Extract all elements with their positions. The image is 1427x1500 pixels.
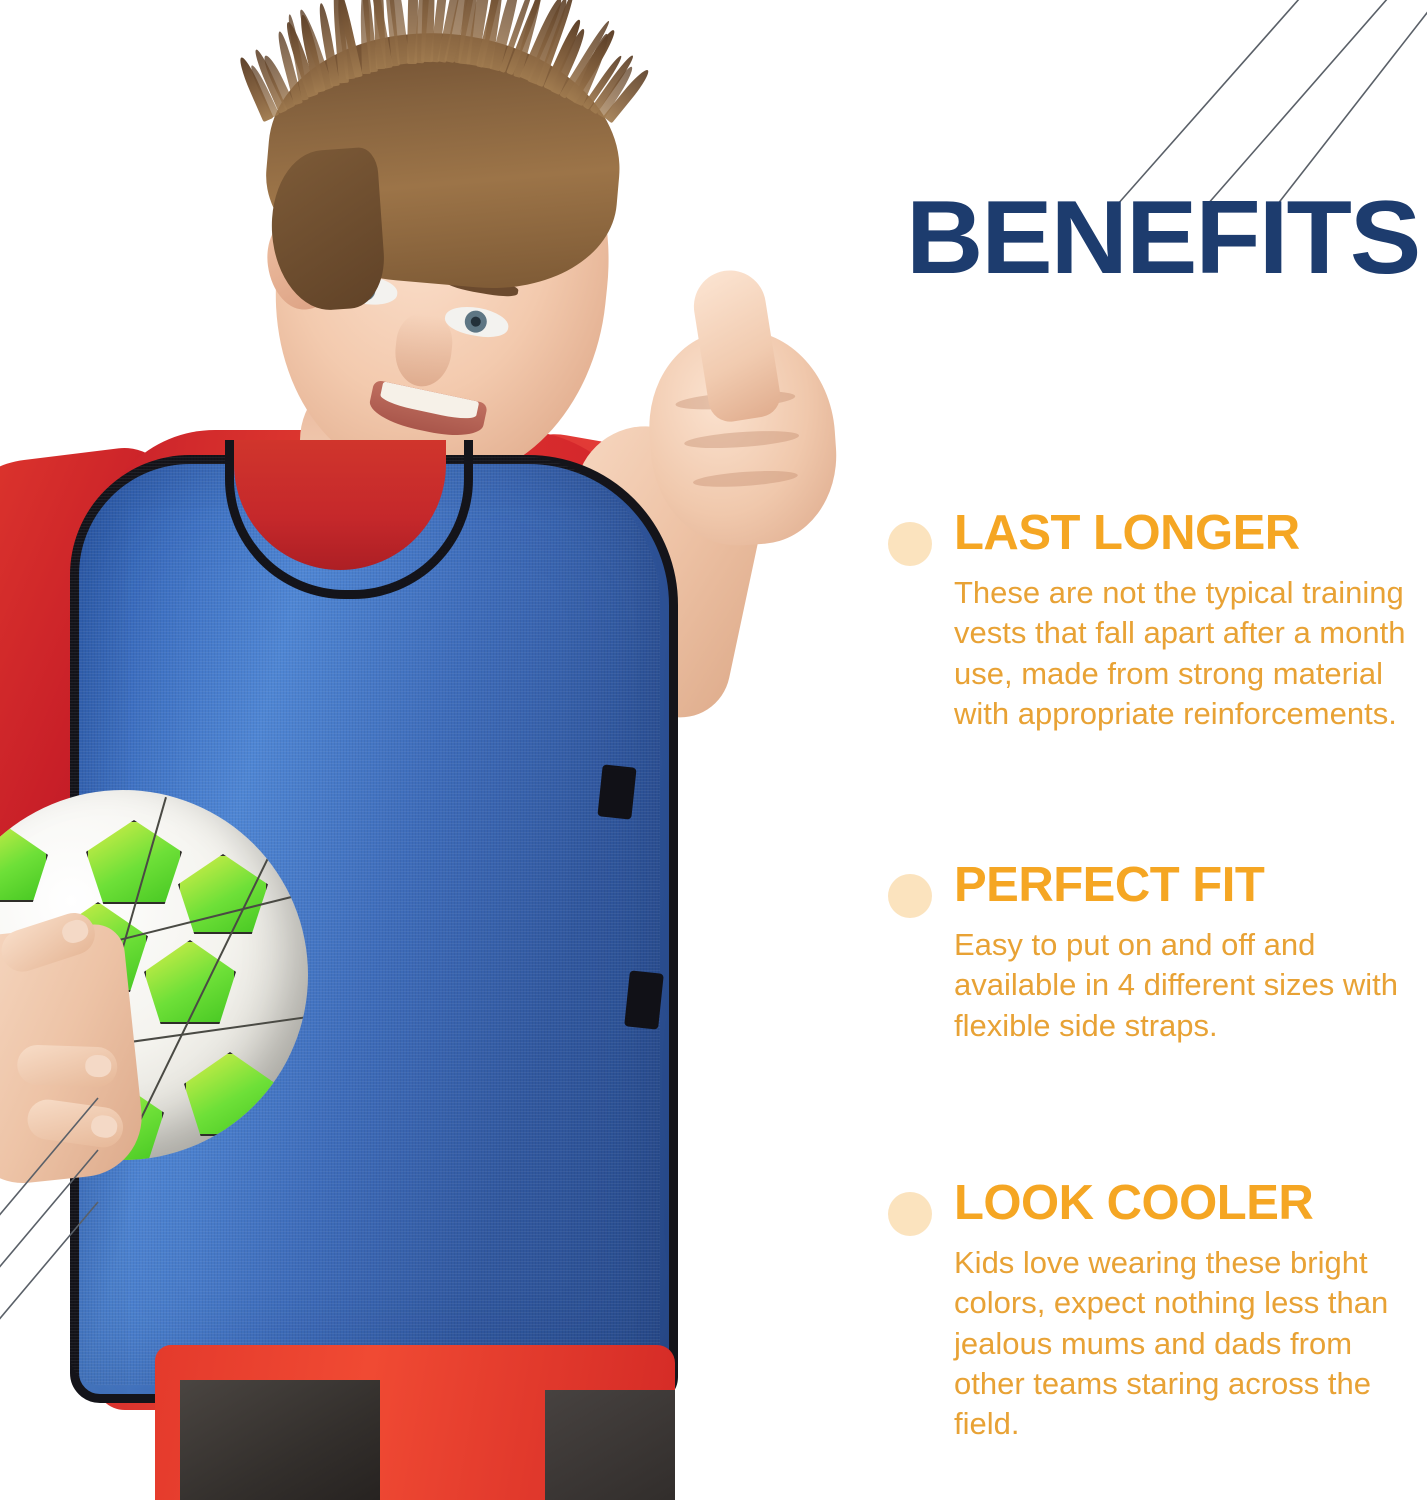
fingernail [90, 1114, 119, 1139]
nose [392, 312, 455, 389]
mouth [366, 379, 488, 442]
page-title: BENEFITS [906, 186, 1427, 290]
benefit-body: These are not the typical training vests… [954, 573, 1424, 734]
knuckle-line-2 [684, 428, 800, 451]
fingernail [85, 1055, 112, 1078]
benefit-item: LAST LONGER These are not the typical tr… [880, 508, 1427, 734]
finger [17, 1044, 118, 1087]
bullet-dot-icon [888, 522, 932, 566]
benefits-panel: BENEFITS LAST LONGER These are not the t… [880, 0, 1427, 1500]
ball-panel [86, 820, 182, 904]
benefit-body: Kids love wearing these bright colors, e… [954, 1243, 1424, 1444]
finger [25, 1097, 126, 1150]
knuckle-line-3 [693, 468, 799, 489]
benefit-heading: LAST LONGER [954, 508, 1427, 559]
hair-spikes [268, 10, 620, 150]
shorts-dark-panel-left [180, 1380, 380, 1500]
right-iris [463, 309, 488, 334]
shorts-dark-panel-right [545, 1390, 675, 1500]
ball-panel [184, 1052, 276, 1136]
product-benefits-infographic: BENEFITS LAST LONGER These are not the t… [0, 0, 1427, 1500]
hand-holding-ball [0, 922, 148, 1189]
benefit-heading: PERFECT FIT [954, 860, 1427, 911]
ball-panel [0, 826, 48, 902]
right-pupil [470, 316, 482, 328]
benefit-item: PERFECT FIT Easy to put on and off and a… [880, 860, 1427, 1046]
benefit-item: LOOK COOLER Kids love wearing these brig… [880, 1178, 1427, 1444]
right-eye [443, 302, 511, 341]
vest-side-strap-lower [624, 970, 664, 1029]
benefit-body: Easy to put on and off and available in … [954, 925, 1424, 1046]
bullet-dot-icon [888, 874, 932, 918]
vest-side-strap-upper [597, 764, 636, 819]
teeth [379, 381, 479, 422]
product-photo [0, 0, 880, 1500]
benefit-heading: LOOK COOLER [954, 1178, 1427, 1229]
fingernail [59, 917, 91, 946]
bullet-dot-icon [888, 1192, 932, 1236]
